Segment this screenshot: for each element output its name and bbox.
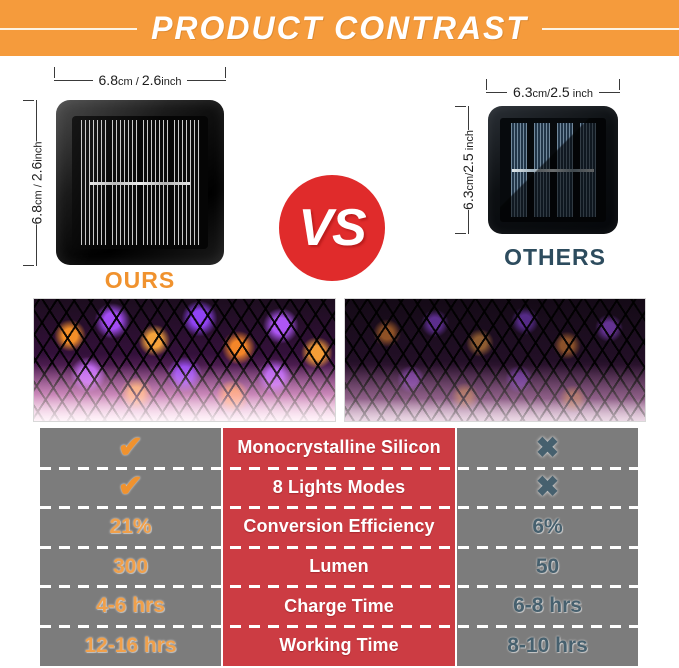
page-header-banner: PRODUCT CONTRAST xyxy=(0,0,679,56)
table-row: 300 Lumen 50 xyxy=(40,547,638,587)
check-icon: ✔ xyxy=(118,433,143,463)
ours-solar-panel-image xyxy=(56,100,224,265)
others-width-dimension: 6.3cm/2.5 inch xyxy=(486,84,620,100)
led-wires xyxy=(344,298,647,422)
dimension-tick-bottom xyxy=(455,233,466,234)
cross-icon: ✖ xyxy=(536,473,559,501)
others-value-cell: ✖ xyxy=(457,428,638,468)
ours-value-cell: ✔ xyxy=(40,468,221,508)
ours-width-label: 6.8cm / 2.6inch xyxy=(93,72,188,88)
others-solar-panel-image xyxy=(488,106,618,234)
ours-height-dimension: 6.8cm / 2.6inch xyxy=(28,100,44,266)
ours-value-cell: 21% xyxy=(40,507,221,547)
check-icon: ✔ xyxy=(118,472,143,502)
table-row: 4-6 hrs Charge Time 6-8 hrs xyxy=(40,586,638,626)
ours-value: 12-16 hrs xyxy=(84,634,176,658)
dimension-tick-right xyxy=(225,67,226,78)
feature-label-cell: Charge Time xyxy=(221,586,457,626)
ours-panel-block: 6.8cm / 2.6inch 6.8cm / 2.6inch OURS xyxy=(18,62,243,288)
others-value-cell: 50 xyxy=(457,547,638,587)
feature-label-cell: Conversion Efficiency xyxy=(221,507,457,547)
vs-label: VS xyxy=(298,198,365,258)
page-title: PRODUCT CONTRAST xyxy=(137,10,542,47)
others-width-label: 6.3cm/2.5 inch xyxy=(507,84,599,100)
ours-value-cell: 4-6 hrs xyxy=(40,586,221,626)
dimension-tick-bottom xyxy=(23,265,34,266)
vs-badge: VS xyxy=(279,175,385,281)
others-value-cell: 6-8 hrs xyxy=(457,586,638,626)
others-value-cell: ✖ xyxy=(457,468,638,508)
feature-label-cell: 8 Lights Modes xyxy=(221,468,457,508)
others-value-cell: 8-10 hrs xyxy=(457,626,638,666)
others-led-photo xyxy=(344,298,647,422)
dimension-tick-top xyxy=(23,100,34,101)
table-row: ✔ Monocrystalline Silicon ✖ xyxy=(40,428,638,468)
ours-width-dimension: 6.8cm / 2.6inch xyxy=(54,72,226,88)
ours-height-label: 6.8cm / 2.6inch xyxy=(22,142,50,225)
others-value: 6-8 hrs xyxy=(513,594,582,618)
led-wires xyxy=(33,298,336,422)
table-row: 21% Conversion Efficiency 6% xyxy=(40,507,638,547)
dimension-tick-right xyxy=(619,79,620,90)
feature-label-cell: Lumen xyxy=(221,547,457,587)
ours-value: 21% xyxy=(109,515,151,539)
others-value-cell: 6% xyxy=(457,507,638,547)
others-height-dimension: 6.3cm/2.5 inch xyxy=(460,106,476,234)
solar-cell-area xyxy=(72,116,208,249)
others-value: 50 xyxy=(536,555,559,579)
table-row: ✔ 8 Lights Modes ✖ xyxy=(40,468,638,508)
others-value: 8-10 hrs xyxy=(507,634,588,658)
ours-value-cell: ✔ xyxy=(40,428,221,468)
feature-label-cell: Working Time xyxy=(221,626,457,666)
others-panel-block: 6.3cm/2.5 inch 6.3cm/2.5 inch OTHERS xyxy=(436,76,666,288)
solar-cell-area xyxy=(500,118,606,222)
comparison-table: ✔ Monocrystalline Silicon ✖ ✔ 8 Lights M… xyxy=(40,428,638,666)
cross-icon: ✖ xyxy=(536,434,559,462)
dimension-tick-top xyxy=(455,106,466,107)
table-row: 12-16 hrs Working Time 8-10 hrs xyxy=(40,626,638,666)
ours-value-cell: 300 xyxy=(40,547,221,587)
ours-value: 4-6 hrs xyxy=(96,594,165,618)
busbar xyxy=(512,169,594,172)
panel-comparison-section: 6.8cm / 2.6inch 6.8cm / 2.6inch OURS xyxy=(0,56,679,288)
ours-caption: OURS xyxy=(56,267,224,294)
ours-value-cell: 12-16 hrs xyxy=(40,626,221,666)
led-photo-row xyxy=(33,298,646,422)
others-height-label: 6.3cm/2.5 inch xyxy=(454,130,482,210)
feature-label-cell: Monocrystalline Silicon xyxy=(221,428,457,468)
others-value: 6% xyxy=(532,515,562,539)
dimension-tick-left xyxy=(54,67,55,78)
ours-led-photo xyxy=(33,298,336,422)
others-caption: OTHERS xyxy=(470,244,640,271)
dimension-tick-left xyxy=(486,79,487,90)
busbar xyxy=(90,182,190,185)
ours-value: 300 xyxy=(113,555,148,579)
